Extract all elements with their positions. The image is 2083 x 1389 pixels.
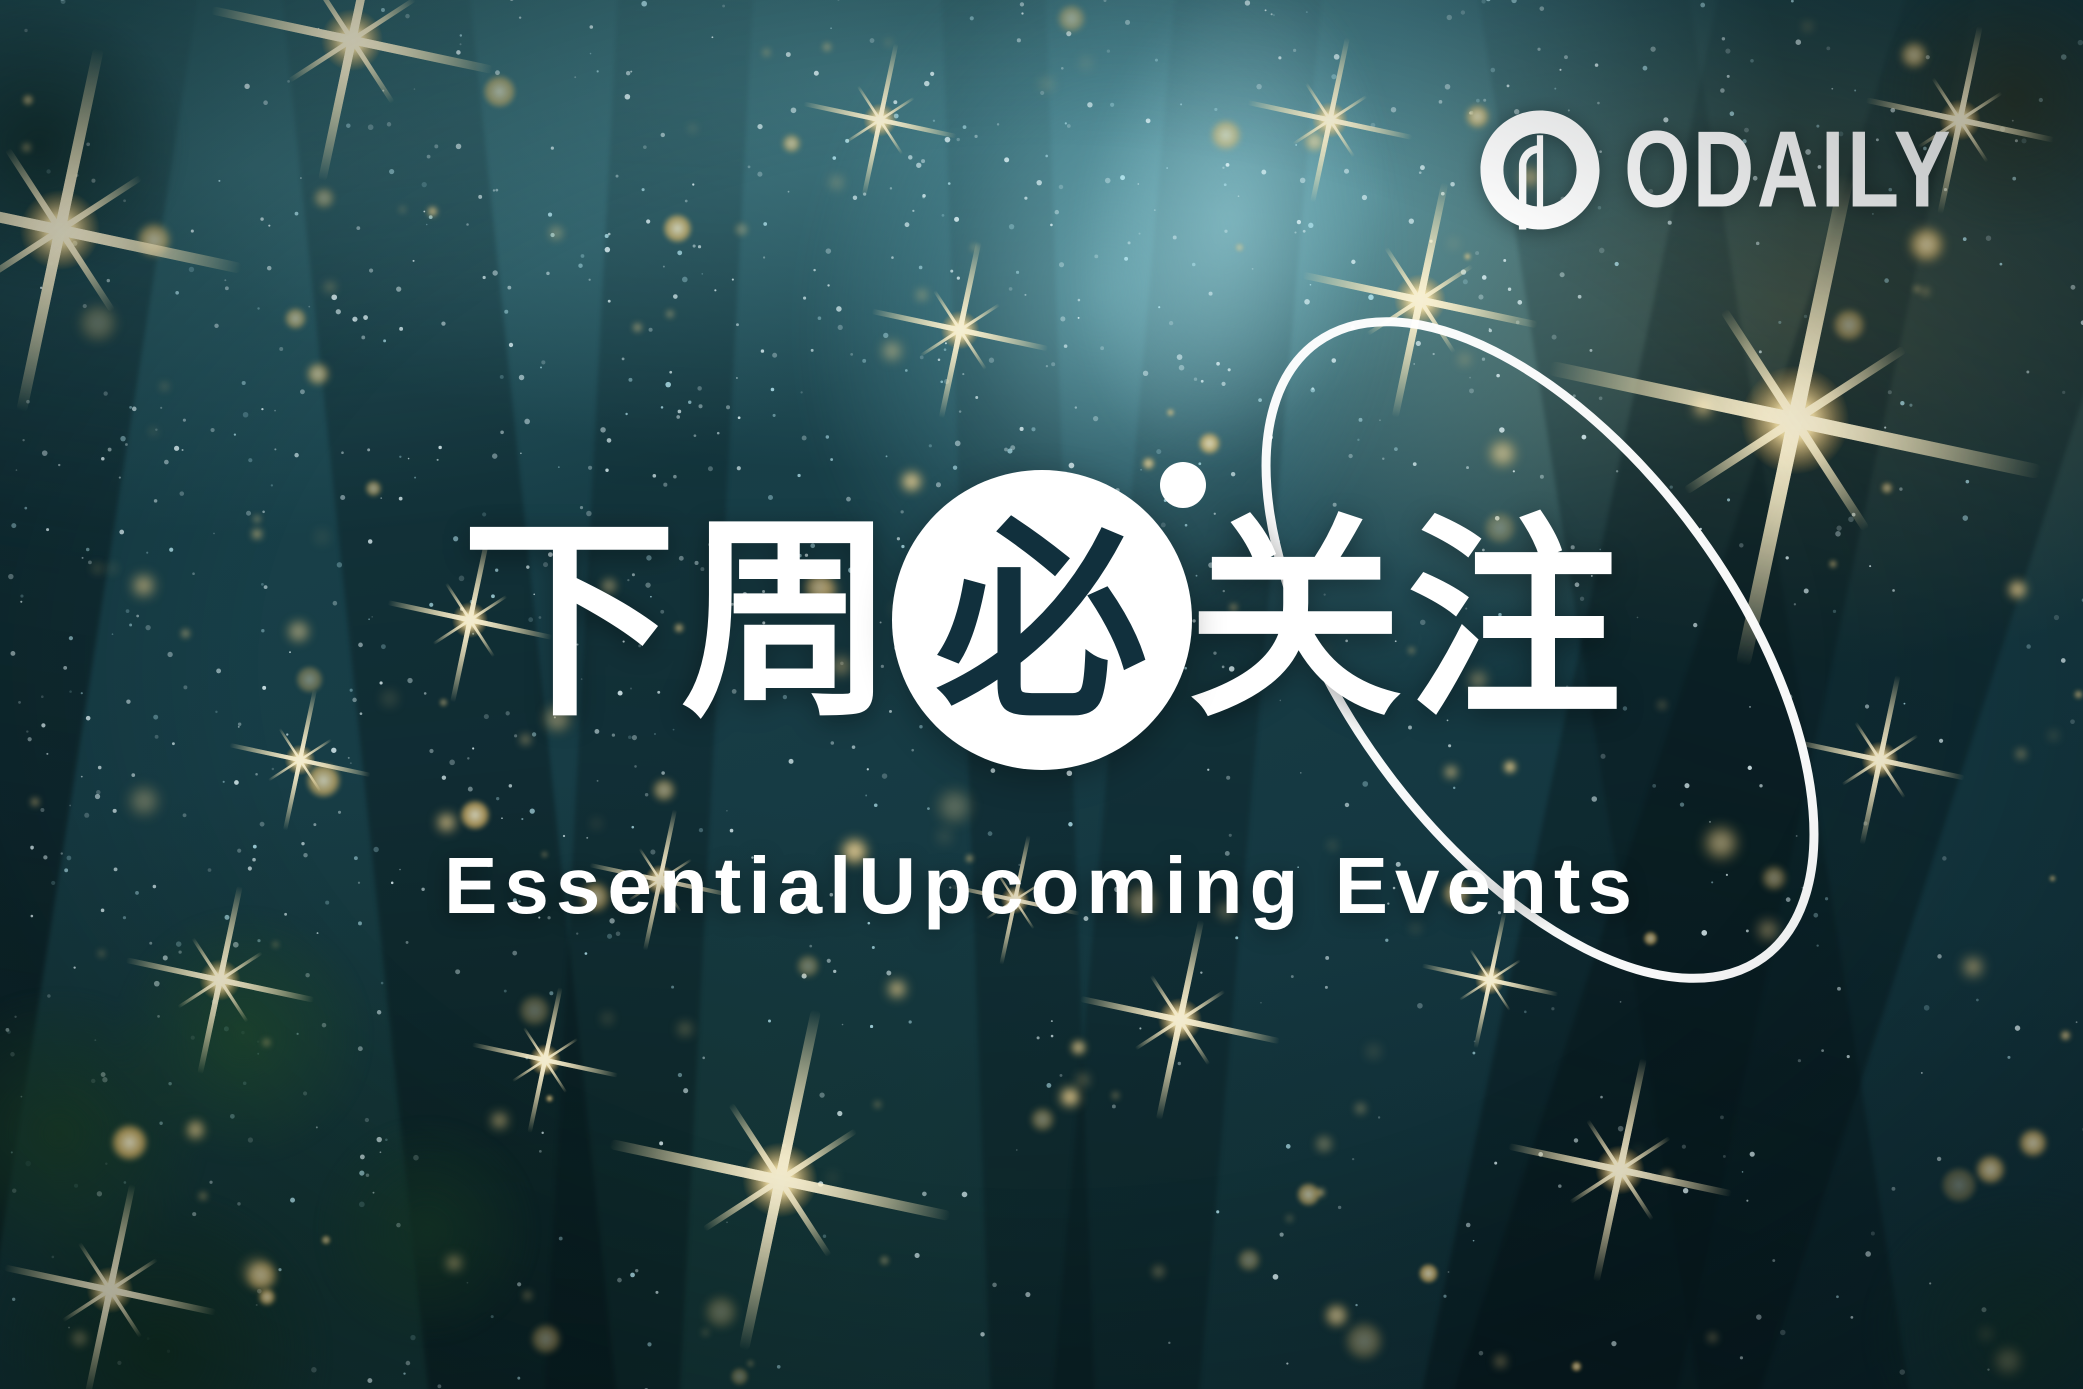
poster-canvas: ODAILY 下 周 必 关 注 EssentialUpcoming Event…	[0, 0, 2083, 1389]
vignette-overlay	[0, 0, 2083, 1389]
